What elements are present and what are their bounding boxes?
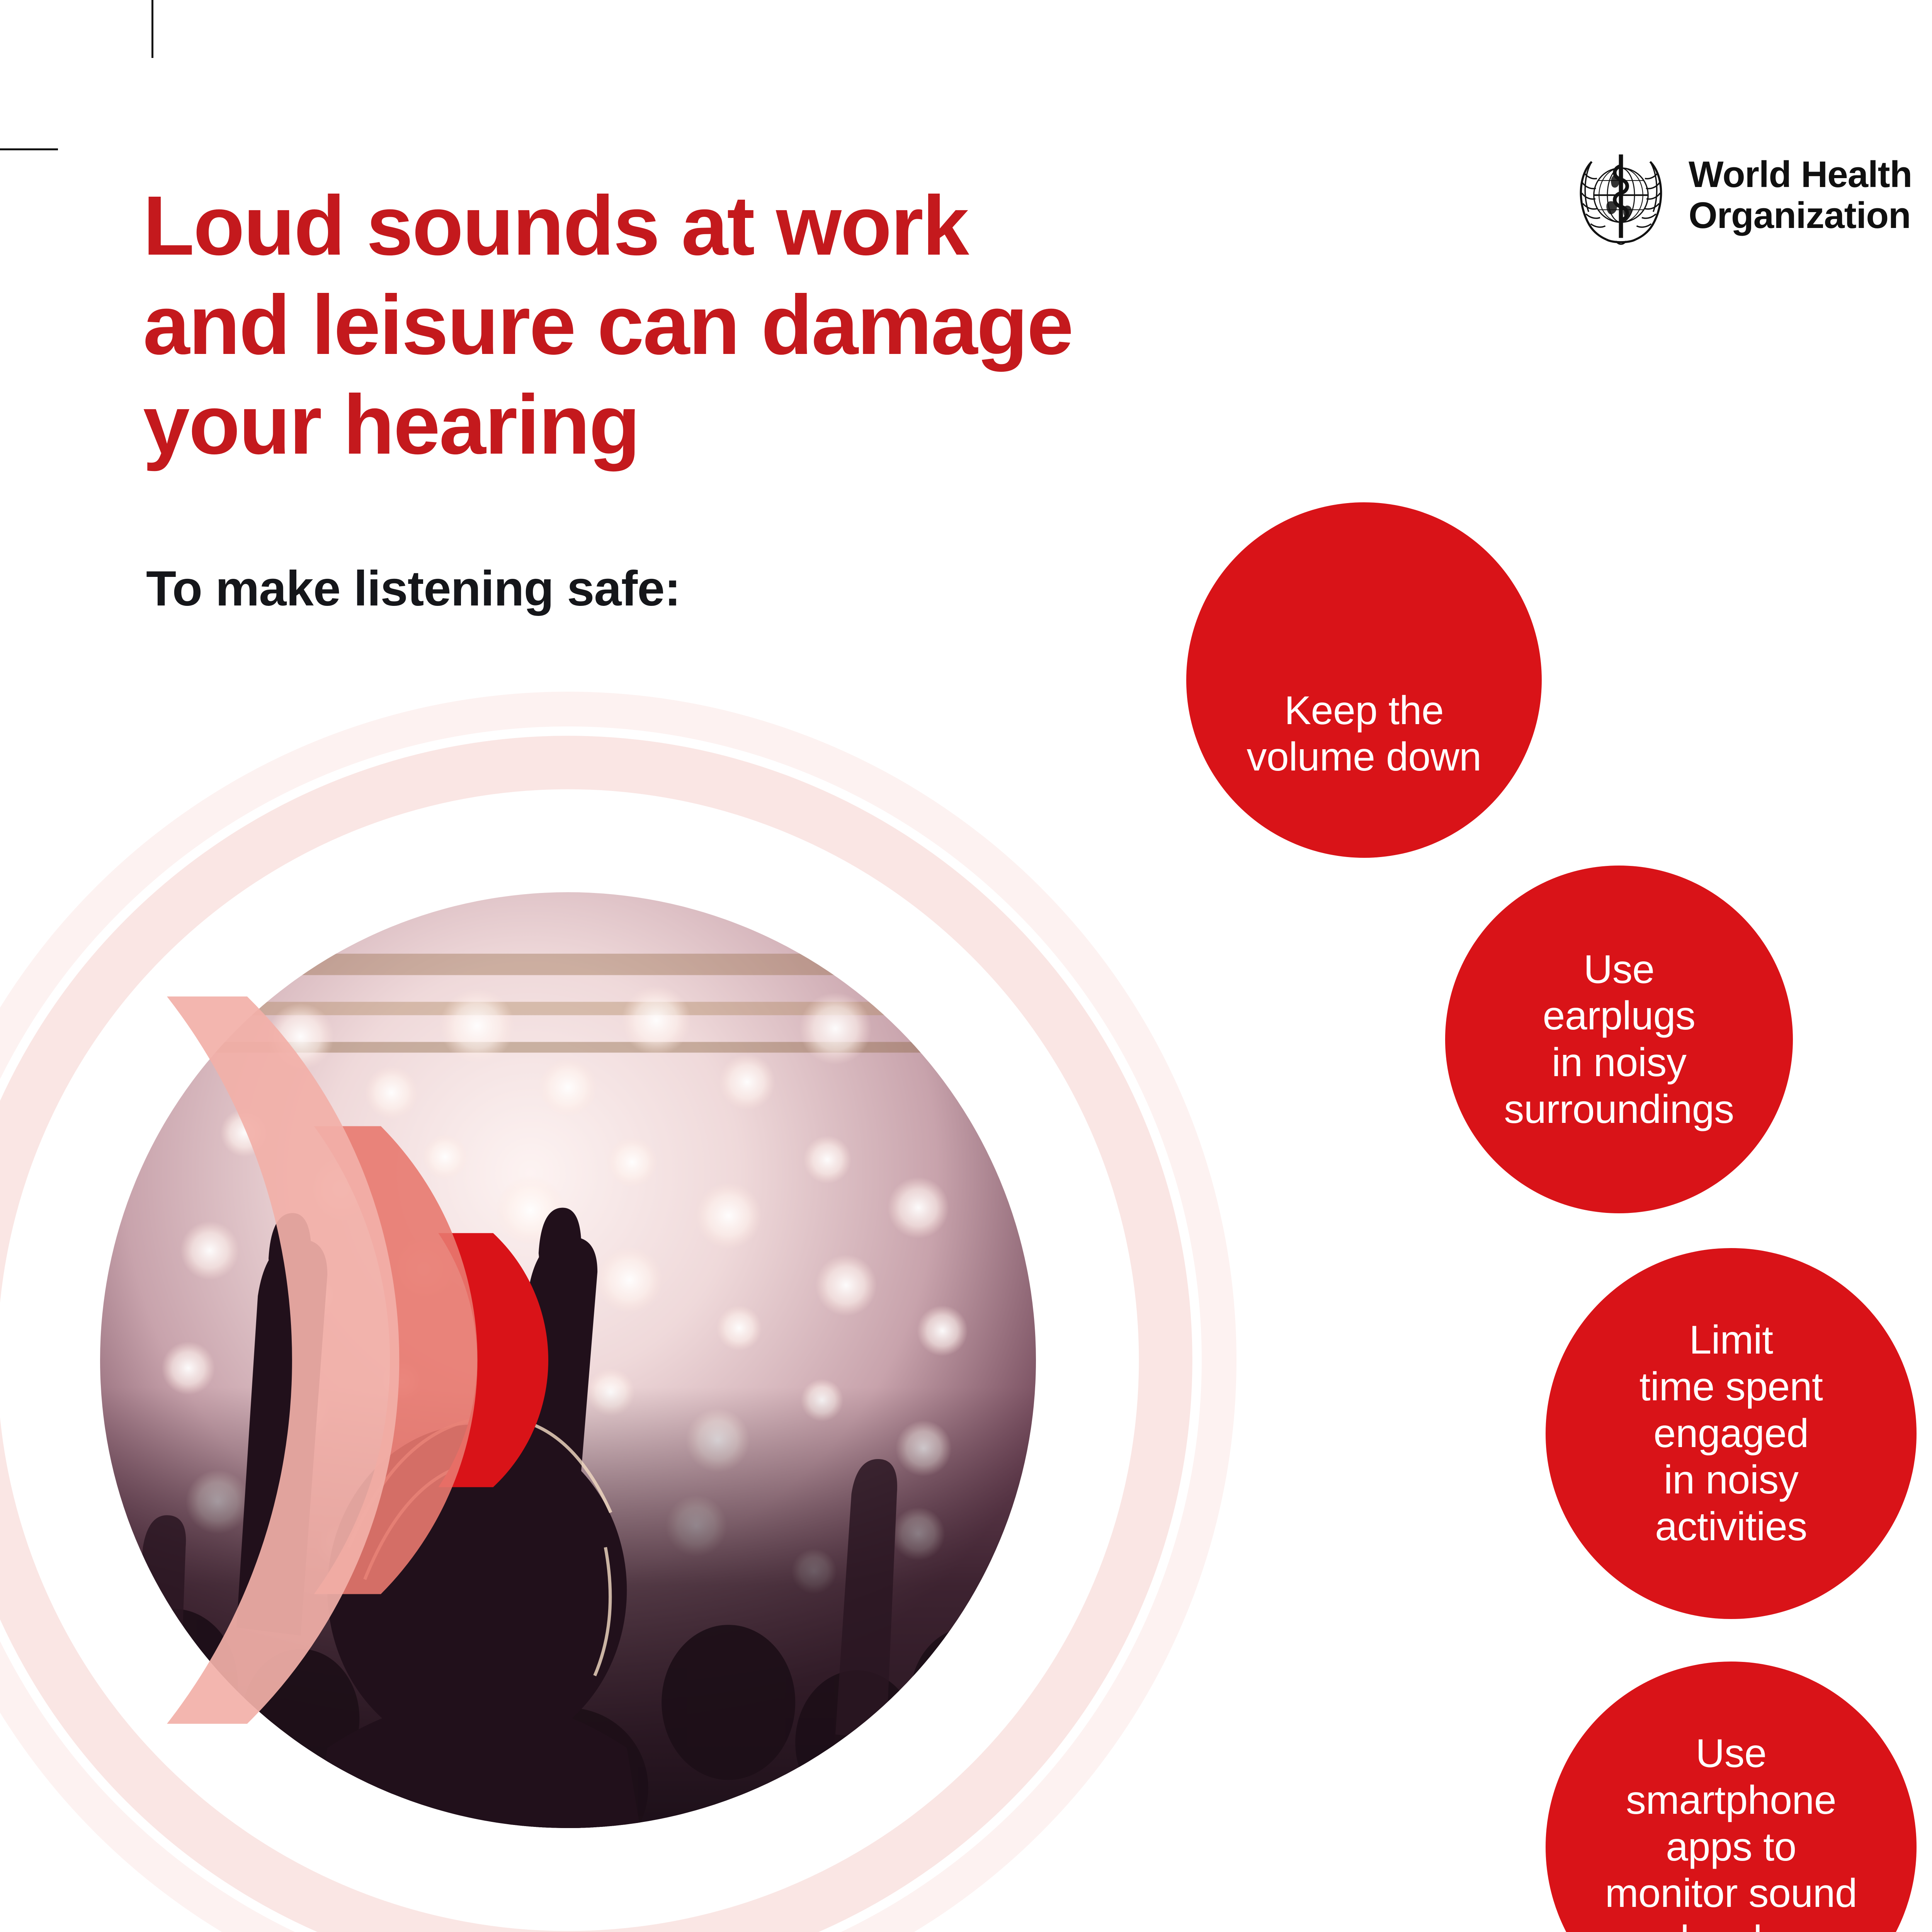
tip-line: in noisy	[1546, 1457, 1917, 1503]
tip-line: time spent	[1546, 1364, 1917, 1410]
tip-line: Use	[1546, 1730, 1917, 1777]
tip-bubble-keep-volume-down[interactable]: Keep the volume down	[1186, 502, 1542, 858]
who-wordmark-line-2: Organization	[1689, 195, 1912, 236]
tip-text: Limit time spent engaged in noisy activi…	[1546, 1317, 1917, 1550]
headline-line-3: your hearing	[143, 375, 1457, 474]
tip-line: Limit	[1546, 1317, 1917, 1364]
tip-line: in noisy	[1445, 1039, 1793, 1086]
who-wordmark: World Health Organization	[1689, 154, 1912, 236]
tip-line: Keep the	[1186, 687, 1542, 734]
tip-bubble-limit-time[interactable]: Limit time spent engaged in noisy activi…	[1546, 1248, 1917, 1619]
who-emblem-icon	[1569, 143, 1673, 247]
headline-line-1: Loud sounds at work	[143, 176, 1457, 276]
hero-sound-graphic	[0, 692, 1236, 1932]
tip-line: surroundings	[1445, 1086, 1793, 1133]
subhead: To make listening safe:	[146, 560, 680, 617]
who-wordmark-line-1: World Health	[1689, 154, 1912, 195]
tip-line: Use	[1445, 946, 1793, 993]
who-logo: World Health Organization	[1569, 143, 1912, 247]
tip-text: Use smartphone apps to monitor sound lev…	[1546, 1730, 1917, 1932]
tip-line: levels	[1546, 1917, 1917, 1932]
tip-line: apps to	[1546, 1824, 1917, 1871]
tip-line: volume down	[1186, 734, 1542, 781]
tip-line: engaged	[1546, 1410, 1917, 1457]
crop-mark-top-left-v	[151, 0, 153, 58]
crop-mark-top-left-h	[0, 148, 58, 150]
tip-line: monitor sound	[1546, 1870, 1917, 1917]
tip-text: Use earplugs in noisy surroundings	[1445, 946, 1793, 1133]
page-title: Loud sounds at work and leisure can dama…	[143, 176, 1457, 474]
tip-line: smartphone	[1546, 1777, 1917, 1824]
headline-line-2: and leisure can damage	[143, 276, 1457, 375]
tip-text: Keep the volume down	[1186, 687, 1542, 781]
tip-bubble-use-apps[interactable]: Use smartphone apps to monitor sound lev…	[1546, 1662, 1917, 1932]
tip-bubble-use-earplugs[interactable]: Use earplugs in noisy surroundings	[1445, 866, 1793, 1213]
tip-line: activities	[1546, 1503, 1917, 1550]
tip-line: earplugs	[1445, 993, 1793, 1039]
